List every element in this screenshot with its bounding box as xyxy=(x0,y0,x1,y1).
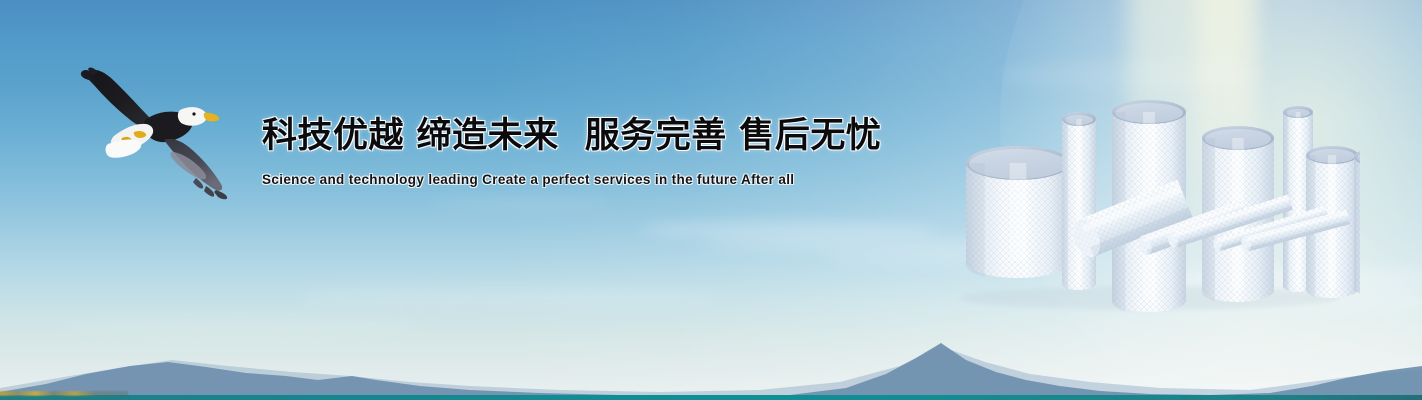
cartridge-short-right-b xyxy=(1354,148,1360,296)
subline: Science and technology leading Create a … xyxy=(262,172,822,187)
headline-line1: 科技优越 缔造未来 xyxy=(262,116,559,156)
banner-text-block: 科技优越 缔造未来服务完善 售后无忧 Science and technolog… xyxy=(262,114,822,187)
bottom-water-strip xyxy=(0,395,1422,400)
shoreline-lights xyxy=(0,391,128,396)
headline-line2: 服务完善 售后无忧 xyxy=(585,116,882,156)
cartridge-slim-tall-a xyxy=(1062,112,1096,290)
cartridge-group xyxy=(940,88,1360,313)
eagle-eye xyxy=(192,112,195,115)
eagle-head xyxy=(178,107,207,126)
headline: 科技优越 缔造未来服务完善 售后无忧 xyxy=(262,114,822,158)
mountain-range-silhouette xyxy=(0,310,1422,400)
eagle-upper-wing xyxy=(89,70,152,125)
eagle-beak xyxy=(204,113,219,122)
melt-blown-pp-filter-cartridges xyxy=(940,88,1360,313)
bald-eagle-in-flight xyxy=(78,58,230,208)
cartridge-large-left xyxy=(965,146,1070,278)
hero-banner: 科技优越 缔造未来服务完善 售后无忧 Science and technolog… xyxy=(0,0,1422,400)
